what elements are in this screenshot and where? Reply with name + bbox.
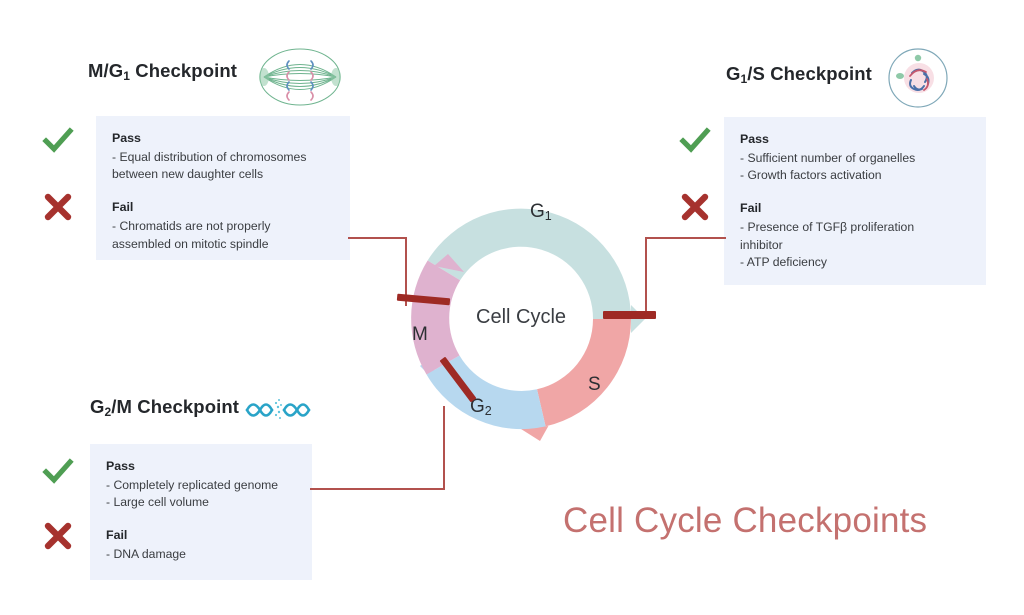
pass-check-icon-g2-m	[41, 455, 75, 489]
checkpoint-title-g1-s: G1/S Checkpoint	[726, 63, 872, 85]
pass-label-g2-m: Pass	[106, 458, 296, 475]
fail-line: - Chromatids are not properly	[112, 218, 334, 236]
pass-line: - Equal distribution of chromosomes	[112, 149, 334, 167]
pass-label-g1-s: Pass	[740, 131, 970, 148]
pass-line: - Completely replicated genome	[106, 477, 296, 495]
title-tail: Checkpoint	[130, 60, 237, 81]
diagram-canvas: M/G1 Checkpoint	[0, 0, 1024, 615]
ring-center-label: Cell Cycle	[476, 306, 566, 329]
fail-line: - DNA damage	[106, 546, 296, 564]
pass-label-m-g1: Pass	[112, 130, 334, 147]
checkpoint-title-g2-m: G2/M Checkpoint	[90, 396, 239, 418]
pass-check-icon-m-g1	[41, 124, 75, 158]
phase-label-main: M	[412, 324, 428, 345]
pass-line: - Large cell volume	[106, 494, 296, 512]
phase-label-main: G	[530, 201, 545, 222]
title-main: G	[90, 396, 105, 417]
title-tail: /S Checkpoint	[747, 63, 872, 84]
page-title: Cell Cycle Checkpoints	[563, 501, 927, 541]
title-sub: 1	[741, 72, 748, 86]
phase-label-sub: 2	[485, 404, 492, 418]
cell-organelles-icon	[886, 46, 950, 110]
panel-g2-m: Pass - Completely replicated genome - La…	[90, 444, 312, 580]
panel-m-g1: Pass - Equal distribution of chromosomes…	[96, 116, 350, 260]
pass-line: - Growth factors activation	[740, 167, 970, 185]
dna-helix-icon	[245, 396, 311, 424]
fail-label-g2-m: Fail	[106, 527, 296, 544]
pass-check-icon-g1-s	[678, 124, 712, 158]
ring-label-m: M	[412, 324, 428, 346]
fail-cross-icon-m-g1	[41, 190, 75, 224]
phase-label-main: S	[588, 374, 601, 395]
title-main: G	[726, 63, 741, 84]
checkpoint-bar-g1-s	[603, 311, 656, 319]
mitotic-spindle-icon	[258, 46, 342, 108]
fail-line: inhibitor	[740, 237, 970, 255]
pass-line: - Sufficient number of organelles	[740, 150, 970, 168]
panel-g1-s: Pass - Sufficient number of organelles -…	[724, 117, 986, 285]
fail-cross-icon-g2-m	[41, 519, 75, 553]
fail-line: assembled on mitotic spindle	[112, 236, 334, 254]
pass-line: between new daughter cells	[112, 166, 334, 184]
fail-cross-icon-g1-s	[678, 190, 712, 224]
fail-line: - ATP deficiency	[740, 254, 970, 272]
title-sub: 2	[105, 405, 112, 419]
ring-label-g1: G1	[530, 201, 552, 223]
title-tail: /M Checkpoint	[111, 396, 239, 417]
checkpoint-title-m-g1: M/G1 Checkpoint	[88, 60, 237, 82]
ring-label-s: S	[588, 374, 601, 396]
fail-line: - Presence of TGFβ proliferation	[740, 219, 970, 237]
connector-g1-s	[640, 236, 730, 320]
fail-label-g1-s: Fail	[740, 200, 970, 217]
fail-label-m-g1: Fail	[112, 199, 334, 216]
phase-label-sub: 1	[545, 209, 552, 223]
title-main: M/G	[88, 60, 123, 81]
title-sub: 1	[123, 69, 130, 83]
